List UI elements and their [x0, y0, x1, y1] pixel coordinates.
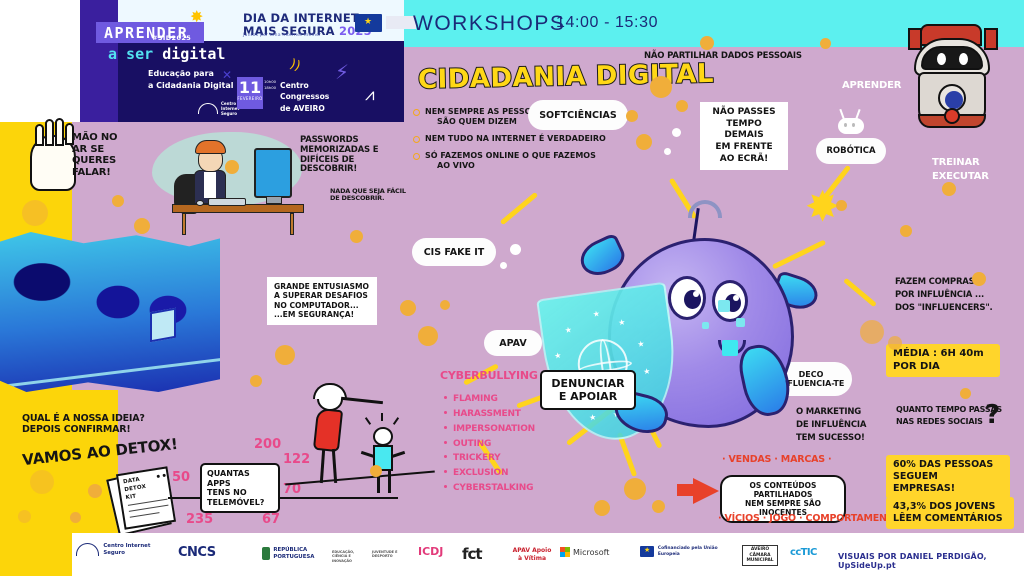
robot-label-train: TREINAR EXECUTAR [932, 156, 989, 184]
list-item: HARASSMENT [444, 409, 535, 419]
decorative-dot [636, 134, 652, 150]
question-our-idea: QUAL É A NOSSA IDEIA? DEPOIS CONFIRMAR! [22, 414, 145, 436]
distress-spark [365, 417, 371, 425]
decorative-dot [88, 484, 102, 498]
bullet-line1: NEM SEMPRE AS PESSOAS [425, 107, 543, 116]
app-count-value: 50 [172, 470, 190, 485]
cloud-softskills: SOFTCIÊNCIAS [528, 100, 628, 130]
robot-eye-right [959, 53, 968, 65]
finger [45, 119, 54, 146]
note-passwords-sub: NADA QUE SEJA FÁCIL DE DESCOBRIR. [330, 188, 406, 203]
cloud-apav: APAV [484, 330, 542, 356]
bully-leg [332, 449, 337, 483]
decorative-dot [275, 345, 295, 365]
eu-flag-icon [355, 14, 382, 32]
event-tagline: Juntos por uma internet melhor [243, 33, 321, 38]
header-left-panel [0, 0, 82, 122]
bullying-stick-figures [295, 385, 425, 515]
victim-arm [391, 451, 405, 458]
note-influence-marketing: O MARKETING DE INFLUÊNCIA TEM SUCESSO! [796, 406, 866, 444]
decorative-dot [510, 244, 521, 255]
decorative-dot [624, 478, 646, 500]
detox-rule [130, 512, 160, 518]
app-count-value: 200 [254, 437, 281, 452]
note-screen-time: NÃO PASSES TEMPO DEMAIS EM FRENTE AO ECR… [700, 102, 788, 170]
decorative-dot [370, 465, 382, 477]
logo-cis: Centro Internet Seguro [76, 543, 166, 557]
tags-addictions: · VÍCIOS · JOGO · COMPORTAMENTOS [718, 514, 908, 525]
app-count-value: 235 [186, 512, 213, 527]
session-time: 14:00 - 15:30 [556, 14, 658, 32]
connector-line [168, 497, 204, 499]
decorative-dot [418, 326, 438, 346]
decorative-dot [860, 320, 884, 344]
decorative-dot [664, 148, 671, 155]
list-item: NEM TUDO NA INTERNET É VERDADEIRO [412, 134, 652, 144]
bully-leg [320, 449, 325, 483]
ground-line [285, 470, 435, 485]
mascot-wifi-icon [688, 200, 722, 218]
robot-button [944, 108, 960, 124]
decorative-dot [112, 195, 124, 207]
education-tagline: Educação para a Cidadania Digital [148, 68, 233, 91]
logo-label: Microsoft [573, 548, 609, 557]
cis-arc-icon [198, 103, 218, 114]
app-count-value: 67 [262, 512, 280, 527]
distress-spark [393, 417, 399, 425]
logo-aveiro: AVEIRO CÂMARA MUNICIPAL [742, 545, 778, 566]
decorative-square [718, 300, 730, 312]
note-no-personal-data: NÃO PARTILHAR DADOS PESSOAIS [644, 52, 802, 62]
highlight-follow-companies: 60% DAS PESSOAS SEGUEM EMPRESAS! [886, 455, 1010, 499]
event-hashtag: #SID2025 [152, 34, 191, 42]
note-passwords: PASSWORDS MEMORIZADAS E DIFÍCEIS DE DESC… [300, 136, 378, 175]
decorative-dot [942, 182, 956, 196]
logo-juventude: JUVENTUDE E DESPORTO [372, 550, 410, 559]
close-x-icon: ✕ [222, 68, 232, 82]
brand-subtitle: a ser digital [108, 45, 225, 63]
decorative-dot [30, 470, 54, 494]
event-date-month: FEVEREIRO [237, 96, 263, 101]
mouse [196, 200, 204, 206]
logo-cctic: ccTIC [790, 547, 817, 558]
decorative-dot [960, 388, 971, 399]
list-item-label: OUTING [453, 439, 491, 449]
desk-leg [182, 213, 186, 235]
logo-cncs: CNCS [178, 545, 216, 560]
computer-monitor [254, 148, 292, 198]
eu-caption-logo [386, 16, 416, 29]
logo-apav: APAV Apoio à Vítima [512, 547, 552, 562]
logo-label: Centro Internet Seguro [103, 543, 166, 557]
logo-label: EDUCAÇÃO, CIÊNCIA E INOVAÇÃO [332, 550, 370, 563]
logo-educacao: EDUCAÇÃO, CIÊNCIA E INOVAÇÃO [332, 550, 370, 563]
monitor-stand [266, 196, 282, 204]
decorative-dot [972, 272, 986, 286]
red-arrow-icon [693, 478, 719, 504]
decorative-dot [650, 76, 672, 98]
cloud-fake-it: CIS FAKE IT [412, 238, 496, 266]
detox-kit-label: DATA DETOX KIT [123, 476, 148, 503]
decorative-dot [18, 510, 31, 523]
decorative-dot [250, 375, 262, 387]
bully-body [313, 408, 343, 452]
logo-label: ICDJ [418, 545, 443, 558]
microsoft-logo-icon [560, 547, 570, 557]
decorative-dot [672, 128, 681, 137]
finger [35, 124, 44, 146]
photo-desk-line [1, 357, 230, 388]
section-label: WORKSHOPS [413, 12, 565, 36]
decorative-dot [700, 36, 714, 50]
finger [55, 118, 64, 146]
raised-hand-illustration [30, 135, 76, 191]
highlight-average-screen-time: MÉDIA : 6H 40m POR DIA [886, 344, 1000, 377]
list-item-label: IMPERSONATION [453, 424, 535, 434]
list-item: SÓ FAZEMOS ONLINE O QUE FAZEMOS AO VIVO [412, 151, 652, 171]
cyberbullying-list: FLAMING HARASSMENT IMPERSONATION OUTING … [444, 394, 535, 498]
list-item-label: CYBERSTALKING [453, 483, 533, 493]
students-photo [0, 232, 220, 392]
list-item: EXCLUSION [444, 468, 535, 478]
photo-laptop [150, 308, 176, 343]
bullet-line2: AO VIVO [425, 161, 652, 171]
decorative-dot [22, 200, 48, 226]
robot-label-learn: APRENDER [842, 80, 901, 92]
list-item-label: FLAMING [453, 394, 498, 404]
caterpillar-icon [838, 118, 864, 134]
brand-subtitle-part2: digital [162, 45, 225, 63]
bully-arm [341, 397, 383, 404]
tags-sales-brands: · VENDAS · MARCAS · [722, 455, 831, 466]
note-enthusiasm: GRANDE ENTUSIASMO A SUPERAR DESAFIOS NO … [267, 277, 377, 325]
logo-fct: fct [462, 545, 482, 563]
robot-eye-left [937, 53, 946, 65]
robot-illustration [902, 22, 1004, 132]
boy-shirt [204, 172, 216, 198]
decorative-dot [888, 336, 902, 350]
decorative-dot [70, 512, 81, 523]
decorative-dot [900, 225, 912, 237]
speech-denunciar-apoiar: DENUNCIAR E APOIAR [540, 370, 636, 410]
decorative-dot [440, 300, 450, 310]
event-date-number: 11 [237, 77, 263, 96]
decorative-dot [225, 160, 239, 174]
logo-microsoft: Microsoft [560, 547, 609, 557]
distress-spark [381, 413, 383, 421]
robot-visor [921, 46, 983, 70]
decorative-dot [400, 300, 416, 316]
decorative-dot [500, 262, 507, 269]
bullet-line1: SÓ FAZEMOS ONLINE O QUE FAZEMOS [425, 151, 596, 160]
decorative-dot [836, 200, 847, 211]
boy-at-computer-illustration [150, 128, 312, 228]
list-item: TRICKERY [444, 453, 535, 463]
logo-label: REPÚBLICA PORTUGUESA [273, 547, 332, 561]
credit-line: VISUAIS POR DANIEL PERDIGÃO, UpSideUp.pt [838, 552, 1024, 570]
list-item: IMPERSONATION [444, 424, 535, 434]
list-item-label: EXCLUSION [453, 468, 508, 478]
decorative-dot [134, 218, 150, 234]
detox-dot [162, 474, 165, 477]
logo-republica: REPÚBLICA PORTUGUESA [262, 547, 332, 561]
logo-label: CNCS [178, 545, 216, 560]
poster-canvas: APRENDER a ser digital #SID2025 Educação… [0, 0, 1024, 576]
list-item-label: TRICKERY [453, 453, 501, 463]
mascot-illustration: ★ ★ ★ ★ ★ ★ ★ ★ ★ ★ ★ [536, 198, 826, 468]
list-item: OUTING [444, 439, 535, 449]
decorative-square [736, 318, 745, 327]
question-how-many-apps: QUANTAS APPS TENS NO TELEMÓVEL? [200, 463, 280, 513]
brand-subtitle-part1: a ser [108, 45, 162, 63]
logo-label: JUVENTUDE E DESPORTO [372, 550, 410, 559]
decorative-dot [676, 100, 688, 112]
logo-eu-funding: ★ Cofinanciado pela União Europeia [640, 546, 730, 557]
boy-hair [195, 140, 226, 154]
decorative-dot [350, 230, 363, 243]
list-item-label: HARASSMENT [453, 409, 521, 419]
detox-rule [129, 505, 169, 512]
logo-label: Cofinanciado pela União Europeia [658, 546, 730, 557]
victim-leg [388, 471, 391, 493]
list-item: FLAMING [444, 394, 535, 404]
logo-label: AVEIRO CÂMARA MUNICIPAL [744, 547, 776, 564]
cis-arc-icon [76, 543, 99, 556]
event-date-badge: 11 FEVEREIRO [237, 77, 263, 109]
logo-label: ccTIC [790, 547, 817, 558]
highlight-read-comments: 43,3% DOS JOVENS LÊEM COMENTÁRIOS [886, 497, 1014, 529]
logo-label: fct [462, 545, 482, 563]
cyberbullying-heading: CYBERBULLYING [440, 370, 538, 383]
decorative-dot [820, 38, 831, 49]
decorative-dot [652, 500, 665, 513]
event-venue: Centro Congressos de AVEIRO [280, 80, 329, 114]
detox-dot [157, 475, 160, 478]
decorative-dot [594, 500, 610, 516]
decorative-square [702, 322, 709, 329]
zigzag-icon: ⩘ [365, 85, 375, 105]
logo-icdj: ICDJ [418, 545, 443, 558]
note-raise-hand: MÃO NO AR SE QUERES FALAR! [72, 132, 117, 178]
logo-label: APAV Apoio à Vítima [512, 547, 552, 562]
keyboard [208, 198, 246, 206]
robot-ear-right [984, 28, 998, 50]
lightning-bolt-icon: ⚡ [335, 60, 349, 84]
decorative-square [722, 340, 738, 356]
bullet-line1: NEM TUDO NA INTERNET É VERDADEIRO [425, 134, 606, 143]
list-item: CYBERSTALKING [444, 483, 535, 493]
mascot-arm-left [575, 232, 629, 281]
decorative-dot [626, 110, 638, 122]
sun-icon: ✸ [190, 7, 203, 26]
victim-head [373, 427, 393, 446]
mascot-eye-left [668, 276, 706, 320]
question-mark-icon: ? [985, 400, 1000, 430]
desk-leg [290, 213, 294, 235]
event-hours: 10h00 18h00 [264, 79, 276, 90]
cloud-robotica: ROBÓTICA [816, 138, 886, 164]
